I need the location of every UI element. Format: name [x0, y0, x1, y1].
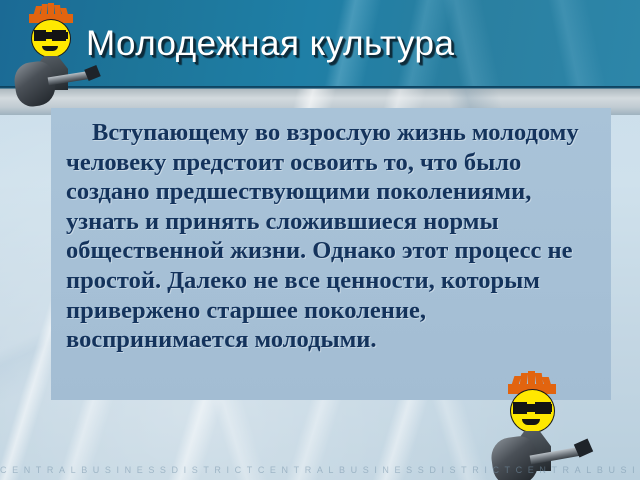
content-panel: Вступающему во взрослую жизнь молодому ч…	[51, 108, 611, 400]
slide-canvas: Молодежная культура Вступающему во взрос…	[0, 0, 640, 480]
guitarist-icon-top-left	[12, 6, 96, 106]
page-title: Молодежная культура	[86, 22, 616, 66]
body-paragraph: Вступающему во взрослую жизнь молодому ч…	[66, 118, 600, 355]
footer-watermark-text: CENTRALBUSINESSDISTRICTCENTRALBUSINESSDI…	[0, 462, 640, 478]
